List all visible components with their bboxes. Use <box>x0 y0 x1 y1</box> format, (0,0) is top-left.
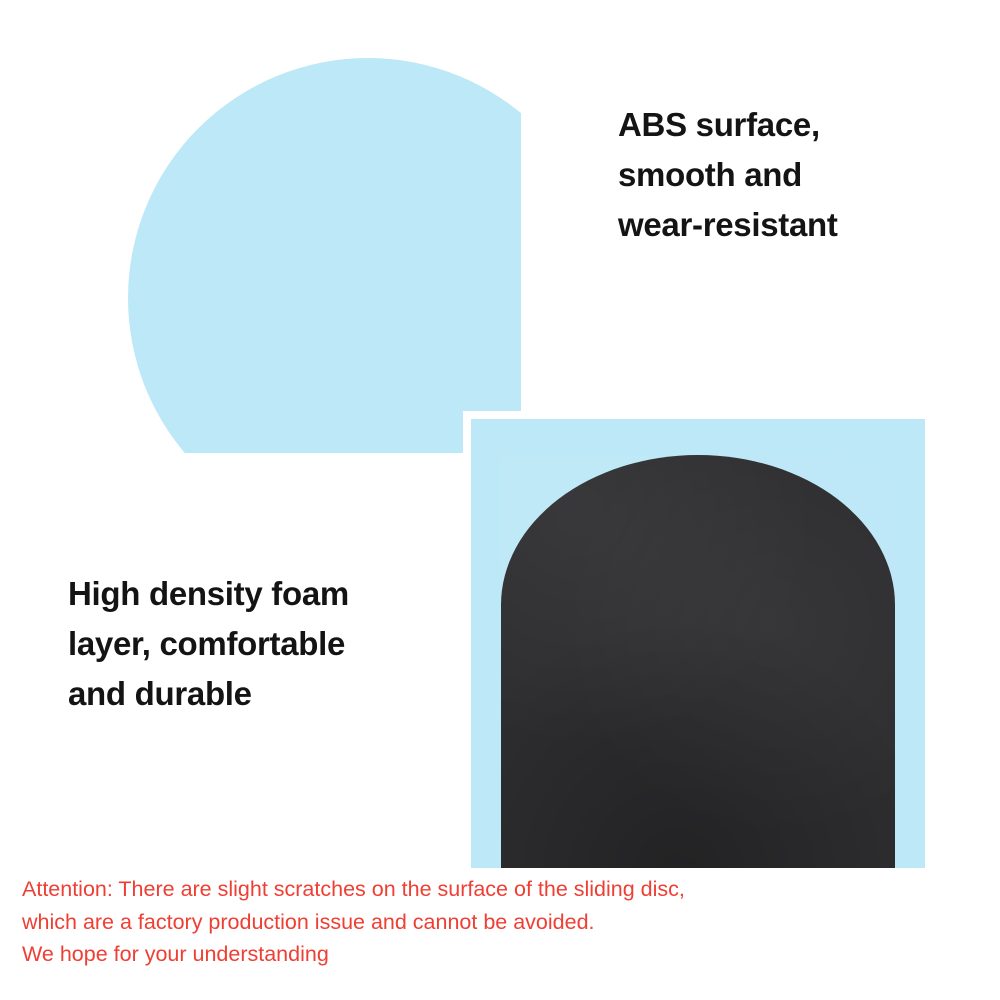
photo-frame-top-edge <box>463 411 933 419</box>
abs-surface-photo <box>68 10 521 453</box>
attention-note: Attention: There are slight scratches on… <box>22 873 982 971</box>
photo-frame-right-edge <box>925 411 933 874</box>
foam-disc-shape <box>501 455 895 874</box>
abs-surface-caption: ABS surface, smooth and wear-resistant <box>618 100 978 250</box>
foam-layer-photo <box>463 411 933 874</box>
foam-layer-caption: High density foam layer, comfortable and… <box>68 569 468 719</box>
foam-texture <box>501 455 895 874</box>
abs-disc-shape <box>128 58 521 453</box>
